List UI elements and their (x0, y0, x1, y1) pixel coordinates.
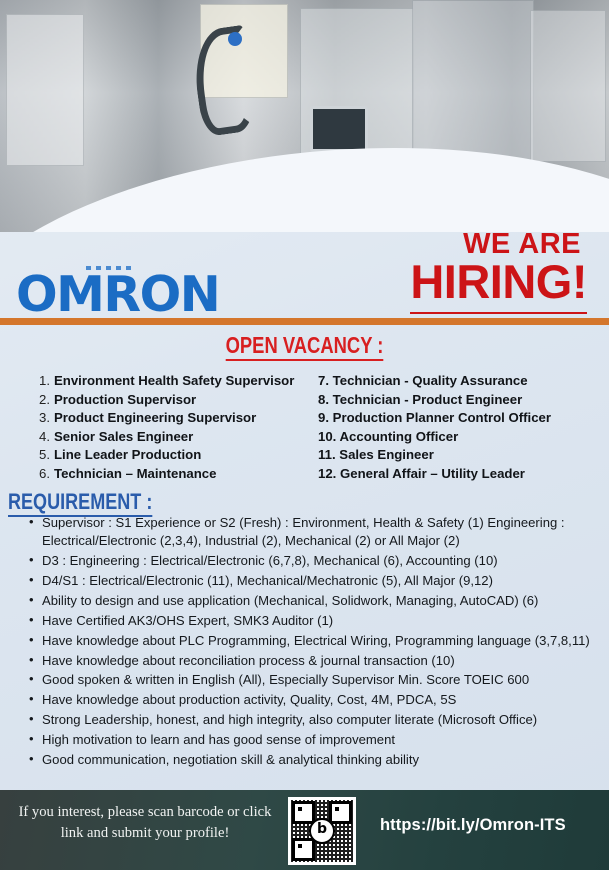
requirement-heading: REQUIREMENT : (8, 489, 152, 515)
open-vacancy-heading-text: OPEN VACANCY : (226, 332, 384, 361)
qr-finder-pattern (292, 838, 315, 861)
factory-machine (6, 14, 84, 166)
vacancy-title: Line Leader Production (54, 446, 201, 465)
vacancy-item: 1. Environment Health Safety Supervisor (30, 372, 310, 391)
vacancy-list-right: 7. Technician - Quality Assurance 8. Tec… (318, 372, 603, 484)
vacancy-item: 12. General Affair – Utility Leader (318, 465, 603, 484)
vacancy-item: 6. Technician – Maintenance (30, 465, 310, 484)
qr-code-canvas: b (291, 800, 353, 862)
requirement-item: Have knowledge about reconciliation proc… (42, 652, 609, 670)
vacancy-item: 7. Technician - Quality Assurance (318, 372, 603, 391)
factory-machine (530, 10, 606, 162)
qr-finder-pattern (292, 801, 315, 824)
vacancy-item: 11. Sales Engineer (318, 446, 603, 465)
requirement-item: Have Certified AK3/OHS Expert, SMK3 Audi… (42, 612, 609, 630)
application-link[interactable]: https://bit.ly/Omron-ITS (380, 816, 566, 835)
vacancy-item: 2. Production Supervisor (30, 391, 310, 410)
vacancy-title: Environment Health Safety Supervisor (54, 372, 294, 391)
orange-divider (0, 318, 609, 325)
machine-knob (228, 32, 242, 46)
vacancy-title: Senior Sales Engineer (54, 428, 193, 447)
team-photo (0, 0, 609, 232)
qr-finder-pattern (329, 801, 352, 824)
requirement-item: Supervisor : S1 Experience or S2 (Fresh)… (42, 514, 609, 549)
call-to-action-text: If you interest, please scan barcode or … (14, 802, 276, 844)
vacancy-item: 5. Line Leader Production (30, 446, 310, 465)
vacancy-title: Production Supervisor (54, 391, 196, 410)
requirement-item: Have knowledge about PLC Programming, El… (42, 632, 609, 650)
vacancy-number: 4. (30, 428, 50, 447)
vacancy-list-left: 1. Environment Health Safety Supervisor … (30, 372, 310, 484)
requirement-item: Have knowledge about production activity… (42, 691, 609, 709)
requirement-item: D3 : Engineering : Electrical/Electronic… (42, 552, 609, 570)
requirement-item: Strong Leadership, honest, and high inte… (42, 711, 609, 729)
vacancy-number: 2. (30, 391, 50, 410)
vacancy-item: 10. Accounting Officer (318, 428, 603, 447)
vacancy-number: 6. (30, 465, 50, 484)
headline-hiring: HIRING! (410, 254, 587, 314)
requirement-item: Good communication, negotiation skill & … (42, 751, 609, 769)
machine-monitor (310, 106, 368, 152)
requirement-list: Supervisor : S1 Experience or S2 (Fresh)… (22, 514, 609, 771)
vacancy-item: 3. Product Engineering Supervisor (30, 409, 310, 428)
requirement-item: Ability to design and use application (M… (42, 592, 609, 610)
requirement-item: Good spoken & written in English (All), … (42, 671, 609, 689)
vacancy-number: 1. (30, 372, 50, 391)
vacancy-title: Technician – Maintenance (54, 465, 216, 484)
bitly-logo-icon: b (309, 818, 335, 844)
requirement-item: D4/S1 : Electrical/Electronic (11), Mech… (42, 572, 609, 590)
vacancy-title: Product Engineering Supervisor (54, 409, 256, 428)
vacancy-number: 5. (30, 446, 50, 465)
vacancy-item: 9. Production Planner Control Officer (318, 409, 603, 428)
open-vacancy-heading: OPEN VACANCY : (61, 332, 548, 359)
requirement-item: High motivation to learn and has good se… (42, 731, 609, 749)
vacancy-item: 4. Senior Sales Engineer (30, 428, 310, 447)
brand-header: OMRON WE ARE HIRING! (0, 222, 609, 318)
omron-logo: OMRON (16, 270, 219, 319)
vacancy-number: 3. (30, 409, 50, 428)
qr-code[interactable]: b (288, 797, 356, 865)
recruitment-poster: OMRON WE ARE HIRING! OPEN VACANCY : 1. E… (0, 0, 609, 870)
vacancy-item: 8. Technician - Product Engineer (318, 391, 603, 410)
